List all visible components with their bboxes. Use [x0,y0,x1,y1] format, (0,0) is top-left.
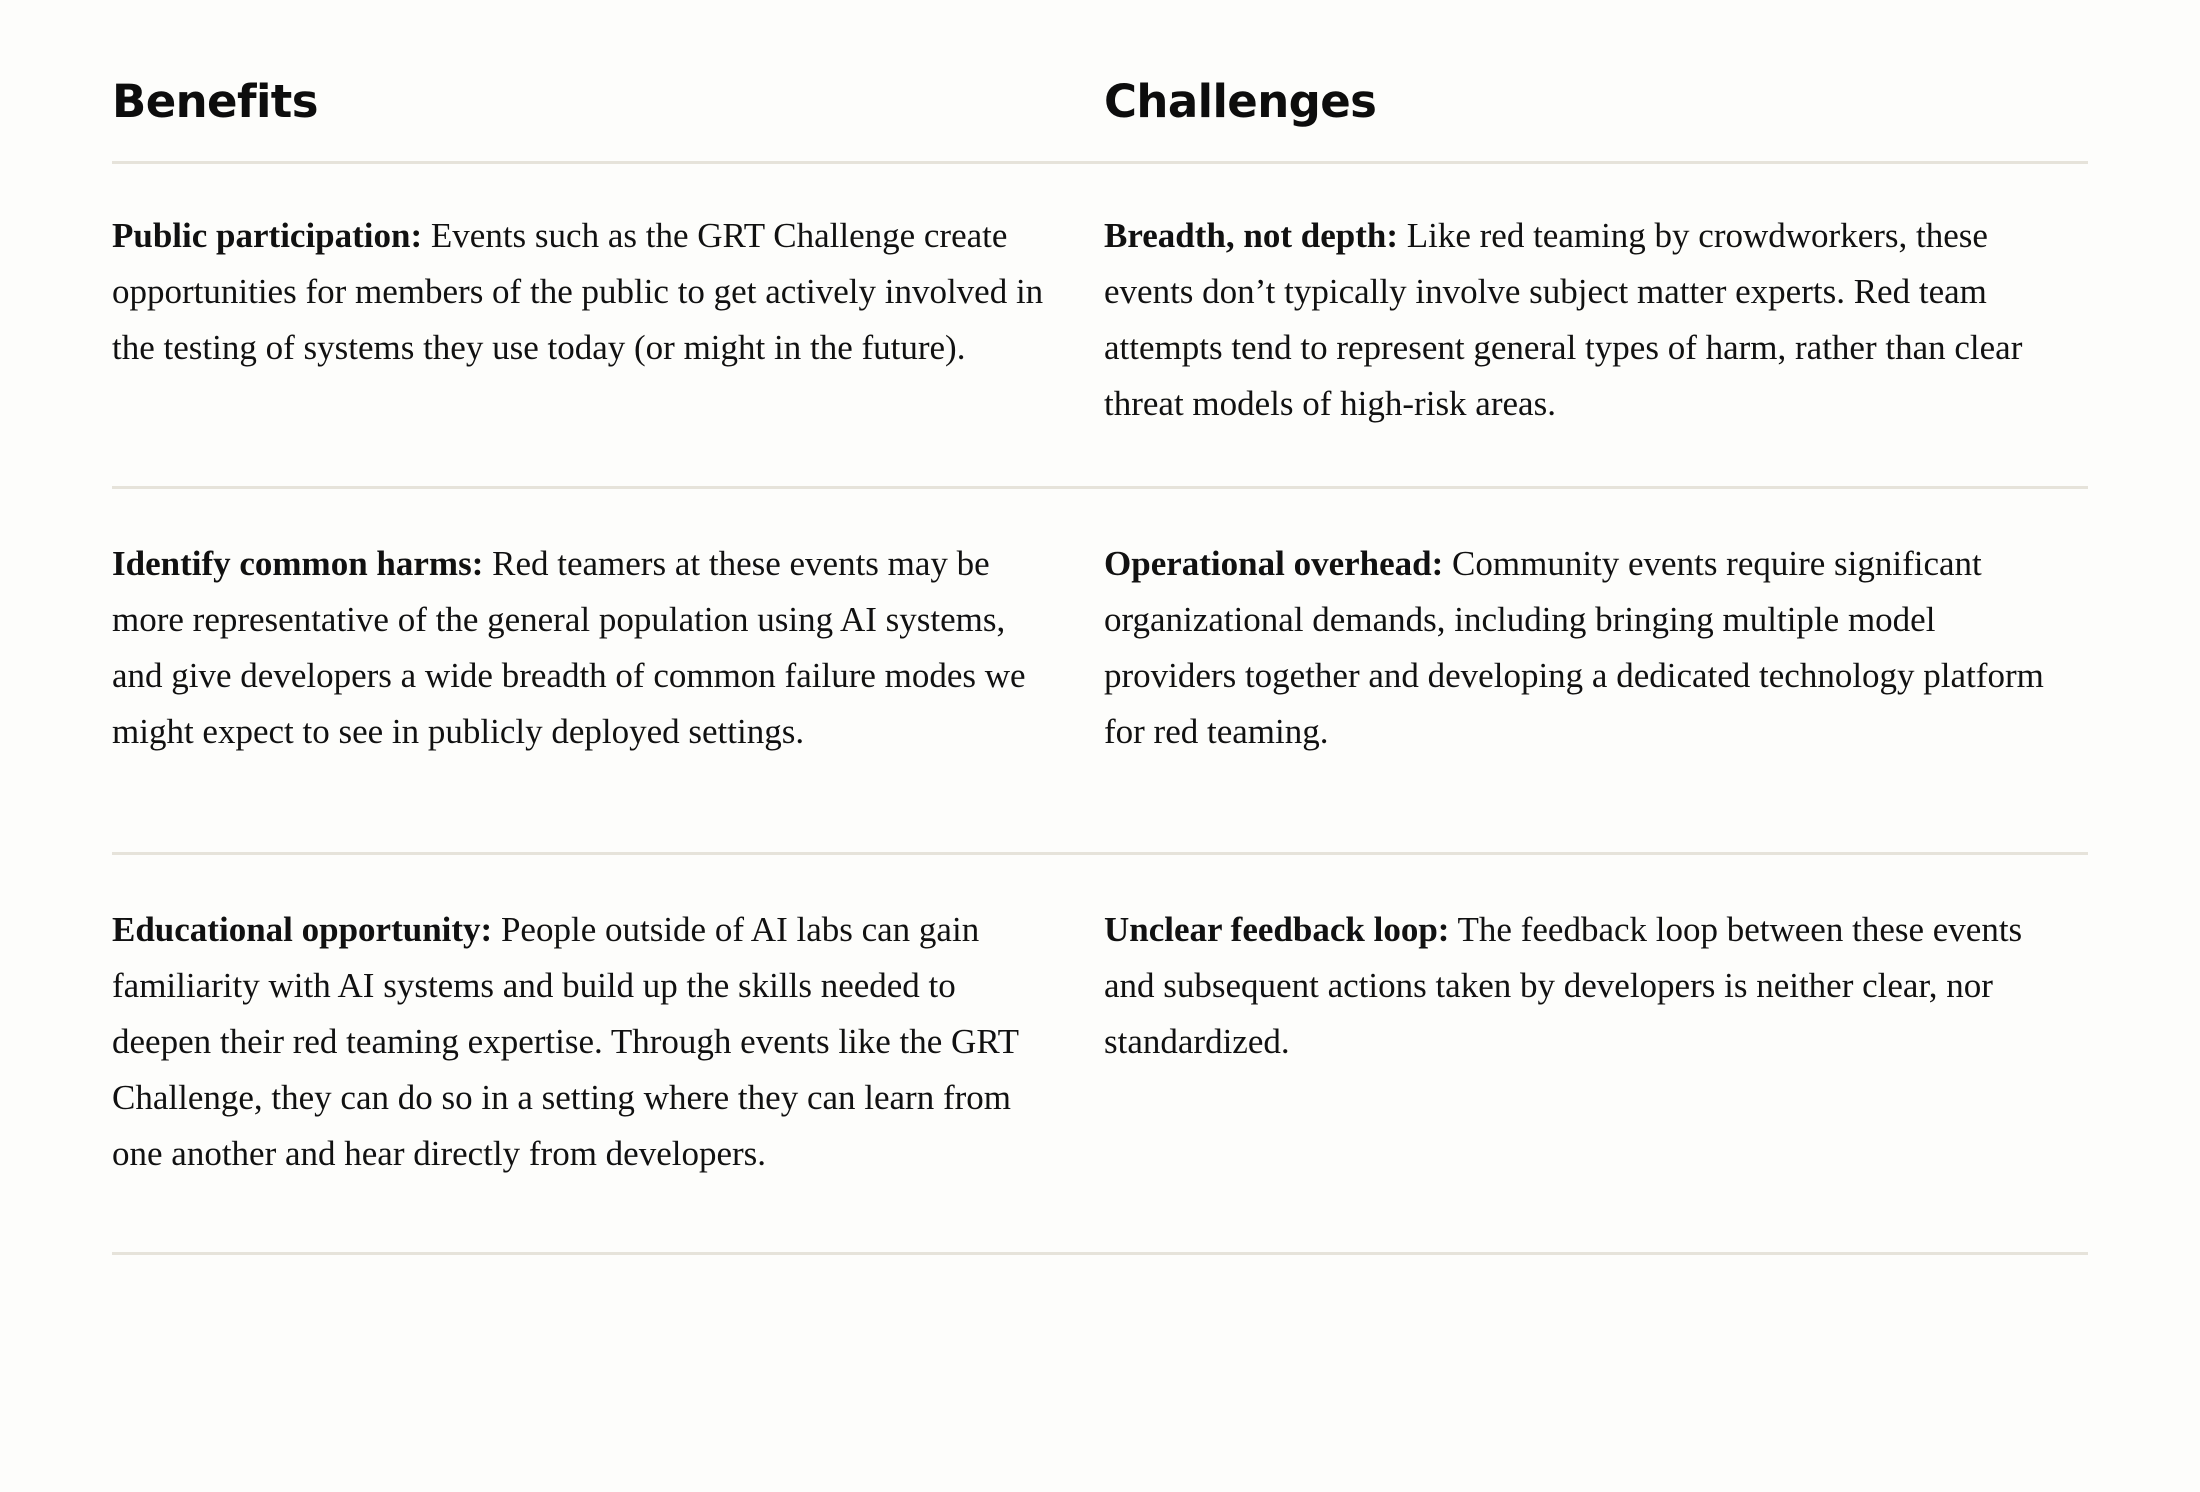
benefits-column-header: Benefits [112,78,1100,125]
table-row: Public participation: Events such as the… [112,164,2088,486]
challenge-cell-2: Operational overhead: Community events r… [1100,489,2088,852]
benefit-lead-2: Identify common harms: [112,544,483,583]
challenge-lead-3: Unclear feedback loop: [1104,910,1449,949]
benefit-cell-1: Public participation: Events such as the… [112,164,1100,486]
challenge-lead-1: Breadth, not depth: [1104,216,1398,255]
challenge-cell-1: Breadth, not depth: Like red teaming by … [1100,164,2088,486]
table-row: Educational opportunity: People outside … [112,855,2088,1252]
challenge-lead-2: Operational overhead: [1104,544,1443,583]
benefit-text-3: Educational opportunity: People outside … [112,902,1052,1182]
table-header-row: Benefits Challenges [112,0,2088,125]
benefit-body-3: People outside of AI labs can gain famil… [112,910,1018,1173]
challenges-title: Challenges [1104,78,2088,125]
benefit-cell-2: Identify common harms: Red teamers at th… [112,489,1100,852]
benefit-lead-1: Public participation: [112,216,422,255]
table-row: Identify common harms: Red teamers at th… [112,489,2088,852]
challenge-cell-3: Unclear feedback loop: The feedback loop… [1100,855,2088,1252]
challenges-column-header: Challenges [1100,78,2088,125]
benefits-title: Benefits [112,78,1100,125]
challenge-text-2: Operational overhead: Community events r… [1104,536,2044,760]
challenge-text-1: Breadth, not depth: Like red teaming by … [1104,208,2044,432]
benefit-text-2: Identify common harms: Red teamers at th… [112,536,1052,760]
benefit-lead-3: Educational opportunity: [112,910,492,949]
challenge-text-3: Unclear feedback loop: The feedback loop… [1104,902,2044,1070]
benefit-text-1: Public participation: Events such as the… [112,208,1052,376]
comparison-table: Benefits Challenges Public participation… [0,0,2200,1492]
benefit-cell-3: Educational opportunity: People outside … [112,855,1100,1252]
divider-row-3 [112,1252,2088,1255]
